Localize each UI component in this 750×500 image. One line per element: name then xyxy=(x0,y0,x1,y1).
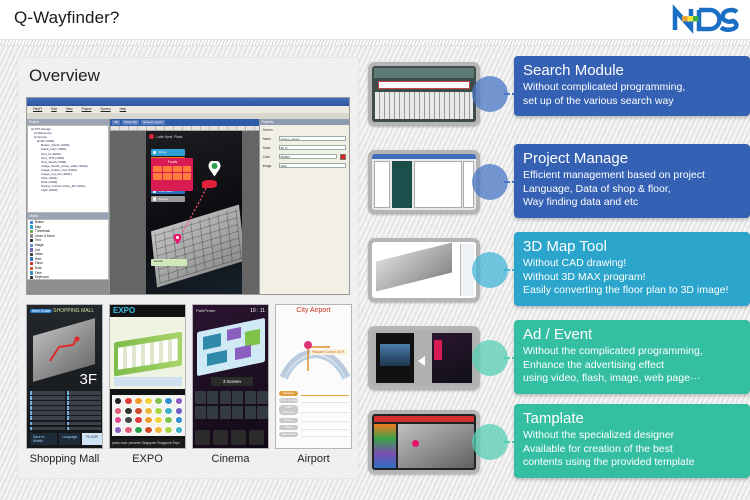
slide-body: Overview File(F) Edit View Project Scree… xyxy=(0,46,750,500)
foods-icon[interactable] xyxy=(163,166,172,173)
shopping-mall-preview[interactable]: Main Guide SHOPPING MALL 3F Save to M xyxy=(26,304,103,449)
feature-description-line: Language, Data of shop & floor, xyxy=(523,183,741,197)
feature-description: Without the complicated programming,Enha… xyxy=(523,345,741,386)
mall-shop-cell[interactable] xyxy=(30,422,65,426)
expo-category-icon[interactable] xyxy=(175,416,184,424)
airport-nav-row[interactable]: Shop xyxy=(279,425,349,430)
cinema-bottom-icons[interactable] xyxy=(195,430,264,445)
feature-description: Without the specialized designerAvailabl… xyxy=(523,429,741,470)
airport-nav-label: Public Transport xyxy=(279,405,298,415)
property-input-color[interactable]: #f0f0f0 xyxy=(279,154,337,160)
airport-top-bar: City Airport xyxy=(276,305,351,316)
property-label-name: Name xyxy=(263,137,276,141)
expo-category-icon[interactable] xyxy=(164,426,172,434)
mall-shop-cell[interactable] xyxy=(30,406,65,410)
app-titlebar xyxy=(27,98,349,106)
expo-category-icon[interactable] xyxy=(114,416,122,424)
use-case-thumbnail-strip: Main Guide SHOPPING MALL 3F Save to M xyxy=(26,304,350,472)
tree-node[interactable]: Light (1000) xyxy=(30,188,108,192)
feature-card-2[interactable]: Project ManageEfficient management based… xyxy=(368,144,750,222)
mall-shop-row[interactable] xyxy=(30,401,101,405)
keyboard-search-preview-image xyxy=(372,66,476,122)
tab-screen-layout[interactable]: Screen Layout xyxy=(141,120,164,126)
mall-btn-language[interactable]: Language xyxy=(59,433,80,445)
foods-icon[interactable] xyxy=(173,173,182,180)
nds-logo xyxy=(670,4,742,34)
airport-nav-row[interactable]: Dining xyxy=(279,418,349,423)
mall-shop-row[interactable] xyxy=(30,411,101,415)
feature-card-body[interactable]: Search ModuleWithout complicated program… xyxy=(514,56,750,116)
toolbox-item-icon xyxy=(30,244,33,247)
cinema-clock: 10 : 11 xyxy=(250,308,265,314)
cinema-screen-label[interactable]: 3 Screen xyxy=(211,377,253,386)
3d-floorplan-preview-image xyxy=(372,242,476,298)
expo-category-icon[interactable] xyxy=(134,416,143,424)
feature-title: 3D Map Tool xyxy=(523,237,741,257)
airport-nav-label: Resources xyxy=(279,432,298,437)
app-menubar[interactable]: File(F) Edit View Project Screen Help xyxy=(27,106,349,113)
use-case-shopping-mall[interactable]: Main Guide SHOPPING MALL 3F Save to M xyxy=(26,304,103,472)
cinema-icon-compass[interactable] xyxy=(249,430,264,445)
feature-description-line: contents using the provided template xyxy=(523,456,741,470)
mall-top-bar: Main Guide SHOPPING MALL xyxy=(27,305,102,316)
mall-shop-cell[interactable] xyxy=(67,391,102,395)
cinema-icon-seat[interactable] xyxy=(231,430,246,445)
mall-shop-list[interactable] xyxy=(30,391,101,432)
connector-dot xyxy=(472,424,508,460)
cinema-tile[interactable] xyxy=(207,406,218,419)
ad-event-preview-image xyxy=(372,330,476,386)
foods-icon-grid[interactable] xyxy=(153,166,191,180)
cinema-icon-screen[interactable] xyxy=(195,430,210,445)
property-label-scale: Scale xyxy=(263,146,276,150)
property-input-name[interactable]: screen_center xyxy=(279,136,346,142)
property-input-scale[interactable]: 80 % xyxy=(279,145,346,151)
mall-bottom-buttons[interactable]: Save to Mobile Language FLOOR xyxy=(30,433,102,445)
feature-description-line: Without complicated programming, xyxy=(523,81,741,95)
use-case-cinema[interactable]: PathFinder 10 : 11 3 Screen xyxy=(192,304,269,472)
stage-menu-row[interactable]: Route xyxy=(151,149,185,156)
expo-category-icon[interactable] xyxy=(114,426,122,434)
connector-dot xyxy=(472,164,508,200)
feature-card-5[interactable]: TamplateWithout the specialized designer… xyxy=(368,404,750,482)
cinema-tile[interactable] xyxy=(195,406,206,419)
color-swatch-icon[interactable] xyxy=(340,154,346,160)
feature-description-line: Without the complicated programming, xyxy=(523,345,741,359)
foods-icon[interactable] xyxy=(173,166,182,173)
menu-item-project[interactable]: Project xyxy=(82,106,92,113)
cinema-top-bar: PathFinder 10 : 11 xyxy=(193,305,268,316)
canvas-tabs[interactable]: 3D Shop Info Screen Layout xyxy=(110,119,258,126)
airport-nav-label: Passport xyxy=(279,391,298,396)
menu-item-view[interactable]: View xyxy=(66,106,73,113)
project-manager-preview[interactable] xyxy=(368,150,480,214)
property-row-color[interactable]: Color #f0f0f0 xyxy=(260,152,349,161)
foods-icon[interactable] xyxy=(183,166,192,173)
property-row-name[interactable]: Name screen_center xyxy=(260,134,349,143)
expo-category-icon[interactable] xyxy=(175,407,184,415)
toolbox-item-icon xyxy=(30,253,33,256)
expo-category-icon[interactable] xyxy=(154,426,163,434)
airport-nav-value xyxy=(301,432,349,437)
airport-nav-row[interactable]: Airline Lounge xyxy=(279,398,349,403)
object-toolbox[interactable]: ButtonMapThumbnailZoom & MoveTextImageLi… xyxy=(27,219,109,280)
toolbox-footer xyxy=(27,280,109,295)
airport-nav-value xyxy=(301,425,349,430)
airport-nav-row[interactable]: Resources xyxy=(279,432,349,437)
expo-category-icon[interactable] xyxy=(124,426,132,434)
toolbox-item-icon xyxy=(30,271,33,274)
feature-description-line: Without CAD drawing! xyxy=(523,257,741,271)
feature-title: Search Module xyxy=(523,61,741,81)
expo-preview[interactable]: EXPO years mad. presents Singapore Singa… xyxy=(109,304,186,449)
feature-description: Efficient management based on projectLan… xyxy=(523,169,741,210)
menu-item-file[interactable]: File(F) xyxy=(33,106,42,113)
use-case-expo[interactable]: EXPO years mad. presents Singapore Singa… xyxy=(109,304,186,472)
cinema-tile[interactable] xyxy=(257,391,268,404)
mall-badge[interactable]: Main Guide xyxy=(30,309,52,313)
property-panel[interactable]: Property Screen Name screen_center Scale… xyxy=(260,119,349,295)
expo-water xyxy=(114,377,182,386)
cinema-tile[interactable] xyxy=(257,406,268,419)
template-preview[interactable] xyxy=(368,410,480,474)
mall-shop-row[interactable] xyxy=(30,391,101,395)
authoring-tool-screenshot[interactable]: File(F) Edit View Project Screen Help Pr… xyxy=(26,97,350,295)
airport-nav-label: Dining xyxy=(279,418,298,423)
feature-description-line: Efficient management based on project xyxy=(523,169,741,183)
foods-panel-title: Foods xyxy=(153,160,191,164)
caption-expo: EXPO xyxy=(109,449,186,469)
expo-category-icon[interactable] xyxy=(154,397,163,405)
feature-card-body[interactable]: TamplateWithout the specialized designer… xyxy=(514,404,750,478)
foods-icon[interactable] xyxy=(163,173,172,180)
mall-shop-cell[interactable] xyxy=(30,427,65,431)
cinema-tile[interactable] xyxy=(245,391,256,404)
expo-brand: EXPO xyxy=(113,306,135,315)
toolbox-item-icon xyxy=(30,221,33,224)
feature-description-line: Without the specialized designer xyxy=(523,429,741,443)
feature-description-line: Without 3D MAX program! xyxy=(523,271,741,285)
expo-category-icon[interactable] xyxy=(124,407,132,415)
cinema-tile[interactable] xyxy=(232,391,243,404)
property-row-scale[interactable]: Scale 80 % xyxy=(260,143,349,152)
cinema-3d-floor xyxy=(197,318,265,376)
expo-category-icon[interactable] xyxy=(154,407,163,415)
expo-category-icon[interactable] xyxy=(175,426,184,434)
property-section-label: Screen xyxy=(260,125,349,134)
cinema-tile[interactable] xyxy=(245,406,256,419)
airport-nav-value xyxy=(301,398,349,403)
property-section-text: Screen xyxy=(263,128,276,132)
mall-shop-cell[interactable] xyxy=(67,396,102,400)
toolbox-item-icon xyxy=(30,267,33,270)
feature-description-line: Easily converting the floor plan to 3D i… xyxy=(523,284,741,298)
expo-top-bar: EXPO xyxy=(110,305,185,316)
mall-route-icon xyxy=(47,335,81,365)
feature-card-body[interactable]: 3D Map ToolWithout CAD drawing!Without 3… xyxy=(514,232,750,306)
mall-shop-cell[interactable] xyxy=(30,391,65,395)
feature-description-line: using video, flash, image, web page··· xyxy=(523,372,741,386)
toolbox-item-icon xyxy=(30,276,33,279)
cinema-tile[interactable] xyxy=(232,406,243,419)
mall-shop-row[interactable] xyxy=(30,427,101,431)
airport-nav-list[interactable]: PassportAirline LoungePublic TransportDi… xyxy=(279,391,349,439)
stage-brand-label: Lotte Hyml. Plaza xyxy=(156,135,182,139)
feature-card-3[interactable]: 3D Map ToolWithout CAD drawing!Without 3… xyxy=(368,232,750,310)
expo-category-icons[interactable] xyxy=(112,395,185,436)
expo-category-icon[interactable] xyxy=(154,416,163,424)
toolbox-item-icon xyxy=(30,248,33,251)
feature-card-body[interactable]: Ad / EventWithout the complicated progra… xyxy=(514,320,750,394)
feature-title: Tamplate xyxy=(523,409,741,429)
left-dock: Project ⊞ STX Design⊞ Reference⊞ Screen⊞… xyxy=(27,119,110,295)
highlight-blob xyxy=(202,180,217,188)
slide-root: Q-Wayfinder? Overview Fil xyxy=(0,0,750,500)
mall-btn-save[interactable]: Save to Mobile xyxy=(30,433,57,445)
toolbox-item-icon xyxy=(30,225,33,228)
airport-brand: City Airport xyxy=(296,307,330,314)
cinema-tile[interactable] xyxy=(207,391,218,404)
mall-shop-row[interactable] xyxy=(30,416,101,420)
mall-shop-row[interactable] xyxy=(30,396,101,400)
feature-card-1[interactable]: Search ModuleWithout complicated program… xyxy=(368,56,750,134)
property-label-color: Color xyxy=(263,155,276,159)
feature-title: Project Manage xyxy=(523,149,741,169)
property-label-image: Image xyxy=(263,164,276,168)
design-canvas[interactable]: 3D Shop Info Screen Layout Lotte Hyml. P… xyxy=(110,119,259,295)
feature-card-4[interactable]: Ad / EventWithout the complicated progra… xyxy=(368,320,750,398)
route-path xyxy=(178,186,210,236)
caption-cinema: Cinema xyxy=(192,449,269,469)
expo-category-icon[interactable] xyxy=(114,407,122,415)
cinema-preview[interactable]: PathFinder 10 : 11 3 Screen xyxy=(192,304,269,449)
mall-shop-cell[interactable] xyxy=(30,416,65,420)
project-manager-preview-image xyxy=(372,154,476,210)
connector-dot xyxy=(472,252,508,288)
expo-category-icon[interactable] xyxy=(144,426,152,434)
toolbox-item-icon xyxy=(30,239,33,242)
caption-shopping-mall: Shopping Mall xyxy=(26,449,103,469)
stage-search-field[interactable]: Search xyxy=(151,259,187,266)
mall-shop-cell[interactable] xyxy=(67,422,102,426)
toolbox-item-icon xyxy=(30,257,33,260)
overview-heading: Overview xyxy=(29,66,100,86)
airport-nav-label: Shop xyxy=(279,425,298,430)
mall-shop-cell[interactable] xyxy=(67,427,102,431)
toolbox-item-icon xyxy=(30,234,33,237)
menu-item-help[interactable]: Help xyxy=(120,106,127,113)
slide-header: Q-Wayfinder? xyxy=(0,0,750,39)
mall-shop-cell[interactable] xyxy=(30,401,65,405)
feature-card-body[interactable]: Project ManageEfficient management based… xyxy=(514,144,750,218)
3d-floorplan-preview[interactable] xyxy=(368,238,480,302)
expo-category-icon[interactable] xyxy=(164,416,172,424)
airport-nav-value xyxy=(301,391,349,396)
mall-shop-cell[interactable] xyxy=(30,411,65,415)
mall-shop-cell[interactable] xyxy=(67,416,102,420)
project-tree[interactable]: ⊞ STX Design⊞ Reference⊞ Screen⊞ 3D (100… xyxy=(27,125,109,213)
feature-description-line: set up of the various search way xyxy=(523,95,741,109)
tab-shop-info[interactable]: Shop Info xyxy=(122,120,139,126)
cinema-tile-grid[interactable] xyxy=(195,391,268,419)
foods-icon[interactable] xyxy=(183,173,192,180)
feature-description-line: Available for creation of the best xyxy=(523,443,741,457)
toolbox-item-icon xyxy=(30,262,33,265)
keyboard-search-preview[interactable] xyxy=(368,62,480,126)
expo-ticker: years mad. presents Singapore Singapore … xyxy=(110,439,186,448)
toolbox-item-icon xyxy=(30,230,33,233)
mall-btn-floor[interactable]: FLOOR xyxy=(82,433,102,445)
mall-shop-cell[interactable] xyxy=(67,401,102,405)
airport-nav-value xyxy=(301,408,349,413)
feature-description-line: Enhance the advertising effect xyxy=(523,359,741,373)
feature-description: Without complicated programming,set up o… xyxy=(523,81,741,108)
connector-dot xyxy=(472,340,508,376)
ad-event-preview[interactable] xyxy=(368,326,480,390)
expo-category-icon[interactable] xyxy=(144,416,152,424)
airport-map-tag: Passport Control 1st Fl. xyxy=(310,349,347,355)
foods-icon[interactable] xyxy=(153,173,162,180)
header-divider xyxy=(0,39,750,46)
brand-mark-icon xyxy=(149,134,154,139)
expo-category-icon[interactable] xyxy=(114,397,122,405)
expo-category-icon[interactable] xyxy=(175,397,184,405)
mall-shop-row[interactable] xyxy=(30,406,101,410)
use-case-airport[interactable]: City Airport Passport Control 1st Fl. Pa… xyxy=(275,304,352,472)
mall-shop-row[interactable] xyxy=(30,422,101,426)
kiosk-stage-preview[interactable]: Lotte Hyml. Plaza RouteShoppingFoodLifeG… xyxy=(146,131,242,295)
cinema-tile[interactable] xyxy=(220,406,231,419)
property-input-image[interactable]: Real xyxy=(279,163,346,169)
overview-panel: Overview File(F) Edit View Project Scree… xyxy=(18,58,358,478)
template-preview-image xyxy=(372,414,476,470)
cinema-tile[interactable] xyxy=(220,391,231,404)
mall-shop-cell[interactable] xyxy=(30,396,65,400)
page-title: Q-Wayfinder? xyxy=(14,8,119,28)
destination-pin-icon xyxy=(208,161,221,177)
airport-nav-row[interactable]: Public Transport xyxy=(279,405,349,415)
current-location-pin-icon xyxy=(173,234,182,245)
expo-category-icon[interactable] xyxy=(124,416,132,424)
tab-3d[interactable]: 3D xyxy=(112,120,120,126)
cinema-brand: PathFinder xyxy=(196,308,216,313)
mall-shop-cell[interactable] xyxy=(67,411,102,415)
cinema-icon-ticket[interactable] xyxy=(213,430,228,445)
menu-item-screen[interactable]: Screen xyxy=(101,106,111,113)
expo-category-icon[interactable] xyxy=(144,407,152,415)
airport-nav-value xyxy=(301,418,349,423)
expo-category-icon[interactable] xyxy=(134,397,143,405)
expo-category-icon[interactable] xyxy=(144,397,152,405)
feature-description: Without CAD drawing!Without 3D MAX progr… xyxy=(523,257,741,298)
cinema-tile[interactable] xyxy=(195,391,206,404)
menu-item-edit[interactable]: Edit xyxy=(51,106,57,113)
airport-nav-row[interactable]: Passport xyxy=(279,391,349,396)
airport-preview[interactable]: City Airport Passport Control 1st Fl. Pa… xyxy=(275,304,352,449)
feature-title: Ad / Event xyxy=(523,325,741,345)
expo-category-icon[interactable] xyxy=(164,407,172,415)
mall-floor-label: 3F xyxy=(79,371,97,388)
expo-category-icon[interactable] xyxy=(134,407,143,415)
property-row-image[interactable]: Image Real xyxy=(260,161,349,170)
foods-icon[interactable] xyxy=(153,166,162,173)
expo-map-area[interactable] xyxy=(110,317,186,389)
caption-airport: Airport xyxy=(275,449,352,469)
expo-category-icon[interactable] xyxy=(164,397,172,405)
mall-brand: SHOPPING MALL xyxy=(53,308,94,314)
connector-dot xyxy=(472,76,508,112)
feature-description-line: Way finding data and etc xyxy=(523,196,741,210)
airport-nav-label: Airline Lounge xyxy=(279,398,298,403)
app-body: Project ⊞ STX Design⊞ Reference⊞ Screen⊞… xyxy=(27,119,349,295)
mall-shop-cell[interactable] xyxy=(67,406,102,410)
expo-category-icon[interactable] xyxy=(134,426,143,434)
expo-category-icon[interactable] xyxy=(124,397,132,405)
stage-brand-row: Lotte Hyml. Plaza xyxy=(146,131,242,142)
